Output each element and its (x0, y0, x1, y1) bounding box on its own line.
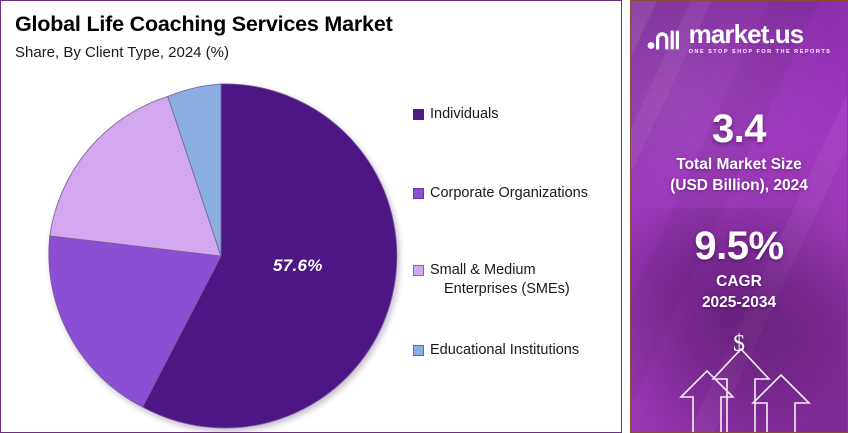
stat-cagr-caption: CAGR 2025-2034 (631, 271, 847, 313)
legend-swatch-icon (413, 109, 424, 120)
brand-logo-tagline: ONE STOP SHOP FOR THE REPORTS (689, 49, 832, 55)
pie-slices (49, 84, 397, 428)
pie-chart-svg (41, 77, 406, 432)
pie-data-label-individuals: 57.6% (273, 256, 323, 276)
legend-item-individuals[interactable]: Individuals (413, 105, 499, 124)
infographic-root: Global Life Coaching Services Market Sha… (0, 0, 848, 433)
stat-market-size-caption-line1: Total Market Size (676, 156, 801, 173)
pie-chart (41, 77, 406, 432)
stat-cagr-value: 9.5% (631, 224, 847, 269)
market-us-logo-icon (647, 25, 681, 51)
stat-market-size-caption: Total Market Size (USD Billion), 2024 (631, 154, 847, 196)
legend-item-label-wrap: Small & MediumEnterprises (SMEs) (430, 261, 570, 299)
legend-item-smes[interactable]: Small & MediumEnterprises (SMEs) (413, 261, 570, 299)
legend-item-label: Corporate Organizations (430, 184, 588, 203)
chart-panel: Global Life Coaching Services Market Sha… (0, 0, 622, 433)
brand-panel: market.us ONE STOP SHOP FOR THE REPORTS … (630, 0, 848, 433)
brand-logo[interactable]: market.us ONE STOP SHOP FOR THE REPORTS (631, 21, 847, 55)
legend-swatch-icon (413, 188, 424, 199)
arrow-right-icon (753, 375, 809, 433)
brand-logo-text: market.us ONE STOP SHOP FOR THE REPORTS (689, 21, 832, 55)
legend-swatch-icon (413, 345, 424, 356)
legend-item-label: Individuals (430, 105, 499, 124)
stat-cagr-caption-line2: 2025-2034 (702, 294, 776, 311)
growth-arrows-icon (631, 331, 848, 433)
stat-market-size-caption-line2: (USD Billion), 2024 (670, 177, 808, 194)
legend-item-educational-institutions[interactable]: Educational Institutions (413, 341, 579, 360)
legend-swatch-icon (413, 265, 424, 276)
stat-market-size-value: 3.4 (631, 107, 847, 152)
legend-item-corporate-organizations[interactable]: Corporate Organizations (413, 184, 588, 203)
chart-subtitle: Share, By Client Type, 2024 (%) (15, 44, 229, 61)
legend-item-label-line1: Small & Medium (430, 262, 536, 278)
brand-logo-wordmark: market.us (689, 21, 832, 47)
legend-item-label-line2: Enterprises (SMEs) (430, 280, 570, 299)
page-title: Global Life Coaching Services Market (15, 12, 393, 37)
legend-item-label: Educational Institutions (430, 341, 579, 360)
stat-cagr-caption-line1: CAGR (716, 273, 762, 290)
arrow-left-icon (681, 371, 733, 433)
